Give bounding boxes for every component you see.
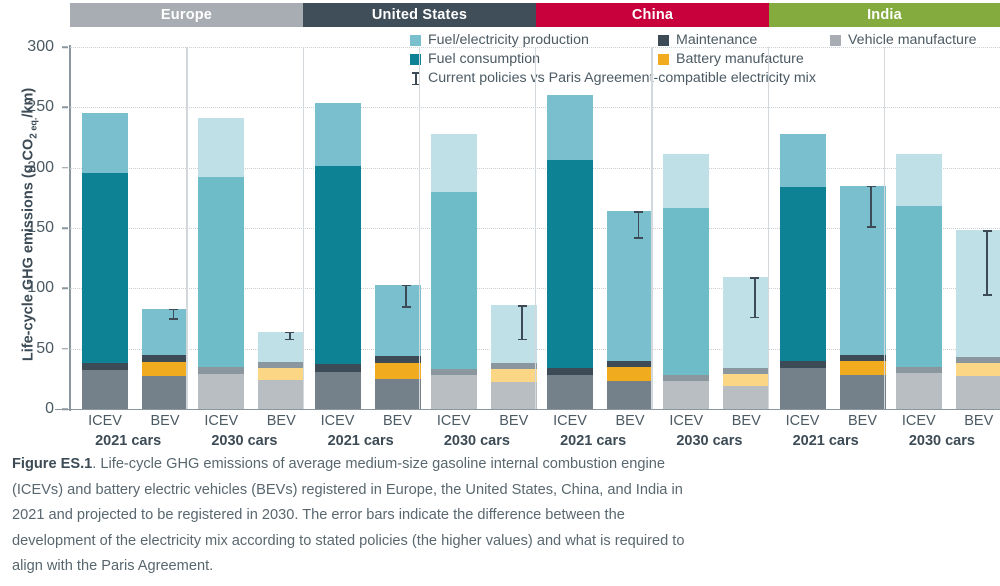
bar-segment-fuel-electricity-production xyxy=(142,309,188,355)
bar-segment-maintenance xyxy=(491,363,537,369)
y-tick-mark xyxy=(62,288,68,290)
bar-china-2030-bev[interactable] xyxy=(723,277,769,409)
bar-segment-fuel-electricity-production xyxy=(375,285,421,356)
y-tick-mark xyxy=(62,167,68,169)
bar-segment-maintenance xyxy=(547,368,593,375)
bar-united-states-2030-icev[interactable] xyxy=(431,134,477,409)
bar-india-2021-bev[interactable] xyxy=(840,186,886,409)
bar-segment-battery-manufacture xyxy=(723,374,769,386)
y-axis-title: Life-cycle GHG emissions (g CO2 eq./km) xyxy=(21,44,40,404)
y-tick-mark xyxy=(62,227,68,229)
y-tick-mark xyxy=(62,348,68,350)
bar-segment-battery-manufacture xyxy=(491,369,537,382)
legend-swatch-vehicle-manufacture xyxy=(830,35,841,46)
x-label-powertrain: BEV xyxy=(258,413,304,429)
bar-segment-fuel-electricity-production xyxy=(258,332,304,362)
bar-segment-battery-manufacture xyxy=(956,363,1000,376)
x-label-powertrain: BEV xyxy=(956,413,1000,429)
bar-segment-fuel-consumption xyxy=(663,208,709,376)
figure-caption: Figure ES.1. Life-cycle GHG emissions of… xyxy=(12,452,712,580)
bar-segment-battery-manufacture xyxy=(258,368,304,380)
region-header-china: China xyxy=(536,3,769,27)
bar-segment-fuel-electricity-production xyxy=(663,154,709,207)
x-label-group-year: 2021 cars xyxy=(768,433,884,449)
bar-segment-fuel-electricity-production xyxy=(198,118,244,177)
bar-segment-fuel-electricity-production xyxy=(607,211,653,361)
error-bar xyxy=(634,211,643,239)
error-bar xyxy=(867,186,876,228)
bar-segment-fuel-consumption xyxy=(431,192,477,369)
bar-segment-battery-manufacture xyxy=(375,363,421,379)
region-header-europe: Europe xyxy=(70,3,303,27)
error-bar xyxy=(750,277,759,318)
x-label-group-year: 2030 cars xyxy=(651,433,767,449)
bar-segment-fuel-consumption xyxy=(896,206,942,366)
bar-india-2021-icev[interactable] xyxy=(780,134,826,409)
bar-segment-fuel-electricity-production xyxy=(431,134,477,192)
bar-segment-vehicle-manufacture xyxy=(431,375,477,409)
bar-segment-fuel-electricity-production xyxy=(896,154,942,206)
x-label-powertrain: BEV xyxy=(840,413,886,429)
bar-segment-fuel-consumption xyxy=(315,166,361,364)
y-tick-mark xyxy=(62,46,68,48)
bar-segment-vehicle-manufacture xyxy=(723,386,769,409)
y-axis-title-sub: 2 xyxy=(28,133,39,139)
bar-segment-maintenance xyxy=(663,375,709,381)
legend-swatch-maintenance xyxy=(658,35,669,46)
bar-segment-fuel-electricity-production xyxy=(780,134,826,187)
bar-segment-maintenance xyxy=(375,356,421,363)
region-header-united-states: United States xyxy=(303,3,536,27)
group-separator xyxy=(186,47,187,409)
group-separator xyxy=(884,47,885,409)
bar-segment-fuel-electricity-production xyxy=(82,113,128,172)
bar-segment-maintenance xyxy=(142,355,188,362)
bar-segment-vehicle-manufacture xyxy=(607,381,653,409)
bar-segment-vehicle-manufacture xyxy=(663,381,709,409)
bar-segment-maintenance xyxy=(315,364,361,371)
x-label-powertrain: ICEV xyxy=(315,413,361,429)
bar-segment-vehicle-manufacture xyxy=(258,380,304,409)
x-label-powertrain: ICEV xyxy=(547,413,593,429)
bar-segment-fuel-electricity-production xyxy=(491,305,537,363)
x-label-powertrain: ICEV xyxy=(780,413,826,429)
bar-china-2021-icev[interactable] xyxy=(547,95,593,409)
bar-segment-battery-manufacture xyxy=(607,367,653,381)
figure-caption-body: . Life-cycle GHG emissions of average me… xyxy=(12,456,684,574)
bar-segment-battery-manufacture xyxy=(840,361,886,375)
x-label-group-year: 2021 cars xyxy=(70,433,186,449)
error-bar xyxy=(402,285,411,308)
bar-segment-maintenance xyxy=(258,362,304,368)
bar-segment-vehicle-manufacture xyxy=(142,376,188,409)
bar-united-states-2021-icev[interactable] xyxy=(315,103,361,409)
bar-united-states-2021-bev[interactable] xyxy=(375,285,421,409)
y-tick-mark xyxy=(62,107,68,109)
x-label-powertrain: ICEV xyxy=(431,413,477,429)
group-separator xyxy=(419,47,420,409)
bar-europe-2021-icev[interactable] xyxy=(82,113,128,409)
bar-segment-vehicle-manufacture xyxy=(780,368,826,409)
bar-europe-2030-bev[interactable] xyxy=(258,332,304,409)
plot-area xyxy=(70,47,1000,409)
region-header-india: India xyxy=(769,3,1000,27)
bar-segment-fuel-consumption xyxy=(780,187,826,361)
error-bar xyxy=(285,332,294,340)
x-label-powertrain: BEV xyxy=(375,413,421,429)
bar-segment-battery-manufacture xyxy=(142,362,188,376)
x-label-group-year: 2030 cars xyxy=(186,433,302,449)
x-label-powertrain: ICEV xyxy=(663,413,709,429)
bar-segment-vehicle-manufacture xyxy=(840,375,886,409)
x-label-powertrain: BEV xyxy=(491,413,537,429)
group-separator xyxy=(651,47,652,409)
bar-china-2021-bev[interactable] xyxy=(607,211,653,409)
error-bar xyxy=(169,309,178,320)
bar-segment-maintenance xyxy=(840,355,886,361)
x-label-group-year: 2030 cars xyxy=(419,433,535,449)
bar-segment-vehicle-manufacture xyxy=(315,372,361,409)
bar-segment-fuel-electricity-production xyxy=(315,103,361,167)
bar-europe-2030-icev[interactable] xyxy=(198,118,244,409)
bar-segment-vehicle-manufacture xyxy=(896,373,942,409)
bar-china-2030-icev[interactable] xyxy=(663,154,709,409)
x-label-powertrain: BEV xyxy=(607,413,653,429)
bar-india-2030-icev[interactable] xyxy=(896,154,942,409)
bar-segment-fuel-consumption xyxy=(547,160,593,368)
bar-india-2030-bev[interactable] xyxy=(956,230,1000,409)
bar-segment-maintenance xyxy=(956,357,1000,363)
x-label-powertrain: BEV xyxy=(723,413,769,429)
legend-swatch-fuel-electricity-production xyxy=(410,35,421,46)
bar-united-states-2030-bev[interactable] xyxy=(491,305,537,409)
error-bar xyxy=(983,230,992,295)
bar-segment-fuel-electricity-production xyxy=(723,277,769,368)
bar-segment-maintenance xyxy=(723,368,769,374)
bar-segment-maintenance xyxy=(198,367,244,374)
bar-segment-vehicle-manufacture xyxy=(82,370,128,409)
bar-segment-fuel-consumption xyxy=(198,177,244,366)
bar-segment-fuel-electricity-production xyxy=(956,230,1000,357)
bar-segment-maintenance xyxy=(780,361,826,368)
bar-segment-maintenance xyxy=(607,361,653,367)
bar-segment-vehicle-manufacture xyxy=(491,382,537,409)
x-label-powertrain: ICEV xyxy=(198,413,244,429)
x-label-group-year: 2021 cars xyxy=(303,433,419,449)
x-label-group-year: 2021 cars xyxy=(535,433,651,449)
x-label-powertrain: ICEV xyxy=(896,413,942,429)
group-separator xyxy=(303,47,304,409)
bar-segment-maintenance xyxy=(896,367,942,373)
bar-segment-vehicle-manufacture xyxy=(375,379,421,409)
region-header-band: EuropeUnited StatesChinaIndia xyxy=(70,3,1000,27)
figure-caption-lead: Figure ES.1 xyxy=(12,456,92,472)
bar-segment-vehicle-manufacture xyxy=(198,374,244,409)
x-label-powertrain: ICEV xyxy=(82,413,128,429)
error-bar xyxy=(518,305,527,340)
bar-segment-fuel-electricity-production xyxy=(840,186,886,355)
bar-segment-maintenance xyxy=(82,363,128,370)
x-label-powertrain: BEV xyxy=(142,413,188,429)
group-separator xyxy=(768,47,769,409)
y-axis-title-eq: eq. xyxy=(28,118,38,134)
y-axis-title-tail: /km) xyxy=(21,88,37,118)
group-separator xyxy=(535,47,536,409)
bar-segment-fuel-electricity-production xyxy=(547,95,593,160)
x-axis-labels: ICEVBEV2021 carsICEVBEV2030 carsICEVBEV2… xyxy=(0,409,1000,454)
bar-europe-2021-bev[interactable] xyxy=(142,309,188,409)
bar-segment-maintenance xyxy=(431,369,477,375)
y-axis-title-main: Life-cycle GHG emissions (g CO xyxy=(21,139,37,361)
bar-segment-vehicle-manufacture xyxy=(547,375,593,409)
bar-segment-fuel-consumption xyxy=(82,173,128,364)
x-label-group-year: 2030 cars xyxy=(884,433,1000,449)
bar-segment-vehicle-manufacture xyxy=(956,376,1000,409)
